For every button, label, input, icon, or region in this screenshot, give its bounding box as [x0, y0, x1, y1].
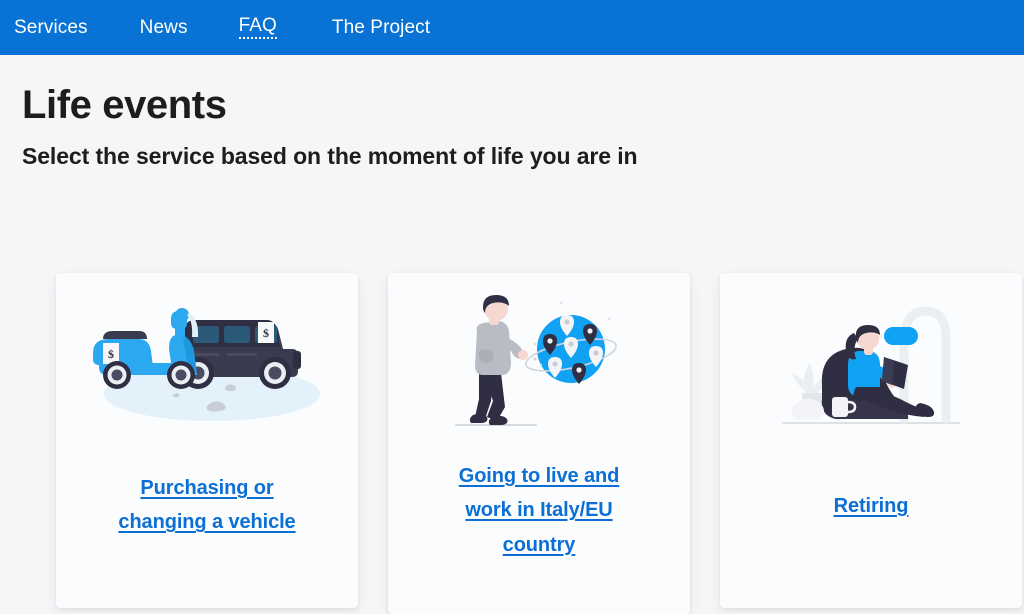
- life-event-card-relocation[interactable]: Going to live and work in Italy/EU count…: [388, 273, 690, 614]
- person-shape: [470, 295, 542, 425]
- page-header: Life events Select the service based on …: [0, 55, 1024, 171]
- globe-shape: [523, 302, 618, 384]
- page-subtitle: Select the service based on the moment o…: [0, 127, 1024, 171]
- illustration-vehicle-container: $: [56, 279, 358, 449]
- nav-item-faq[interactable]: FAQ: [239, 16, 277, 39]
- life-event-link-relocation[interactable]: Going to live and work in Italy/EU count…: [447, 459, 632, 562]
- life-event-link-retiring[interactable]: Retiring: [764, 489, 979, 523]
- svg-text:$: $: [108, 347, 114, 361]
- life-event-link-vehicle[interactable]: Purchasing or changing a vehicle: [100, 471, 315, 540]
- nav-item-news[interactable]: News: [140, 18, 188, 37]
- nav-item-the-project[interactable]: The Project: [332, 18, 430, 37]
- person-reading-on-beanbag-icon: [776, 289, 966, 439]
- page-title: Life events: [0, 55, 1024, 127]
- scooter-and-car-icon: $: [77, 289, 337, 439]
- life-events-card-grid: $: [0, 273, 1024, 614]
- life-event-card-vehicle[interactable]: $: [56, 273, 358, 608]
- scooter-price-tag-icon: $: [103, 343, 119, 364]
- car-price-tag-icon: $: [258, 322, 274, 343]
- top-navigation-bar: Services News FAQ The Project: [0, 0, 1024, 55]
- life-event-card-retiring[interactable]: Retiring: [720, 273, 1022, 608]
- nav-item-services[interactable]: Services: [14, 18, 88, 37]
- illustration-relocation-container: [388, 279, 690, 449]
- svg-text:$: $: [263, 326, 269, 340]
- illustration-retiring-container: [720, 279, 1022, 449]
- person-with-globe-icon: [449, 289, 629, 439]
